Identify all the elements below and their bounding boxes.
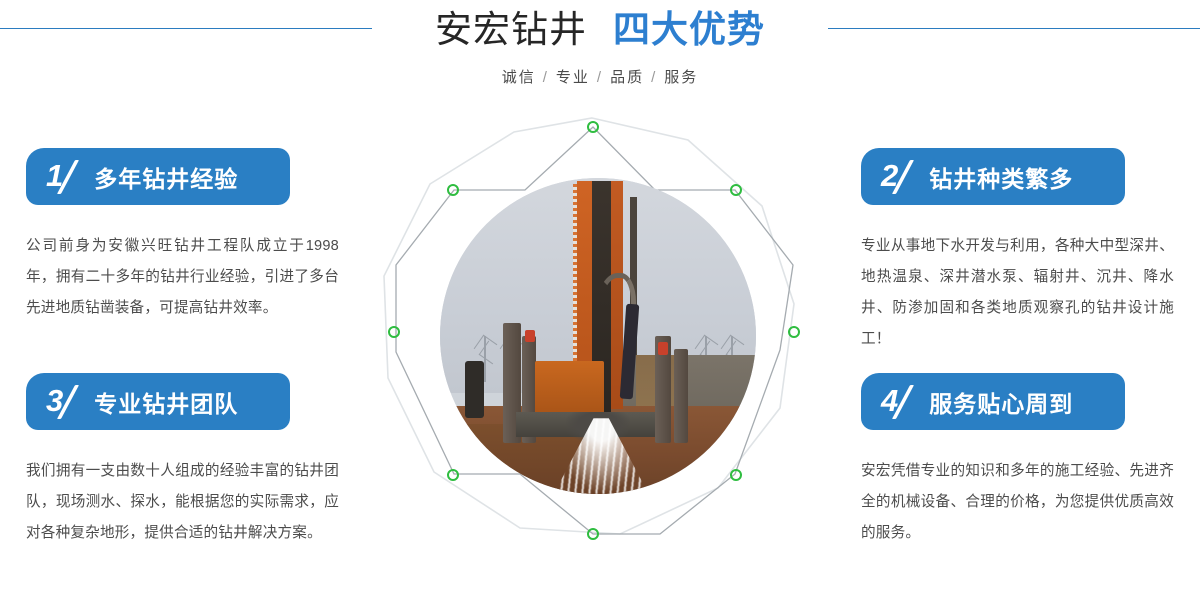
advantage-title-4: 服务贴心周到 [929,385,1073,419]
advantage-body-2: 专业从事地下水开发与利用，各种大中型深井、地热温泉、深井潜水泵、辐射井、沉井、降… [861,231,1174,355]
photo-rig-leg-cap [525,330,534,343]
photo-rig-leg [674,349,688,444]
subtitle-item-2: 专业 [556,69,590,86]
advantage-badge-1: 1 多年钻井经验 [26,148,290,205]
page-title: 安宏钻井四大优势 [0,8,1200,52]
drilling-rig-photo [440,178,756,494]
advantage-badge-3: 3 专业钻井团队 [26,373,290,430]
badge-slash-icon [60,160,80,194]
photo-rig-cab [535,361,605,418]
advantage-card-1: 1 多年钻井经验 公司前身为安徽兴旺钻井工程队成立于1998年，拥有二十多年的钻… [26,148,356,324]
advantage-title-1: 多年钻井经验 [94,160,238,194]
advantage-card-4: 4 服务贴心周到 安宏凭借专业的知识和多年的施工经验、先进齐全的机械设备、合理的… [861,373,1191,549]
photo-rig-leg-cap [658,342,667,355]
advantage-card-3: 3 专业钻井团队 我们拥有一支由数十人组成的经验丰富的钻井团队，现场测水、探水，… [26,373,356,549]
badge-slash-icon [895,160,915,194]
advantage-body-1: 公司前身为安徽兴旺钻井工程队成立于1998年，拥有二十多年的钻井行业经验，引进了… [26,231,339,324]
advantage-badge-4: 4 服务贴心周到 [861,373,1125,430]
center-graphic [370,110,830,570]
header-subtitle: 诚信/专业/品质/服务 [0,66,1200,87]
subtitle-item-1: 诚信 [502,69,536,86]
subtitle-separator-3: / [651,69,657,86]
subtitle-item-4: 服务 [664,69,698,86]
advantage-title-3: 专业钻井团队 [94,385,238,419]
advantage-body-4: 安宏凭借专业的知识和多年的施工经验、先进齐全的机械设备、合理的价格，为您提供优质… [861,456,1174,549]
subtitle-item-3: 品质 [610,69,644,86]
page-header: 安宏钻井四大优势 诚信/专业/品质/服务 [0,0,1200,110]
vertex-marker-mid-left [389,327,399,337]
advantage-badge-2: 2 钻井种类繁多 [861,148,1125,205]
badge-slash-icon [895,385,915,419]
advantage-title-2: 钻井种类繁多 [929,160,1073,194]
advantage-card-2: 2 钻井种类繁多 专业从事地下水开发与利用，各种大中型深井、地热温泉、深井潜水泵… [861,148,1191,355]
title-main: 安宏钻井 [435,9,587,50]
subtitle-separator-1: / [543,69,549,86]
photo-pipe [465,361,484,418]
advantage-body-3: 我们拥有一支由数十人组成的经验丰富的钻井团队，现场测水、探水，能根据您的实际需求… [26,456,339,549]
photo-tree [484,336,486,382]
subtitle-separator-2: / [597,69,603,86]
badge-slash-icon [60,385,80,419]
title-accent: 四大优势 [613,9,765,50]
